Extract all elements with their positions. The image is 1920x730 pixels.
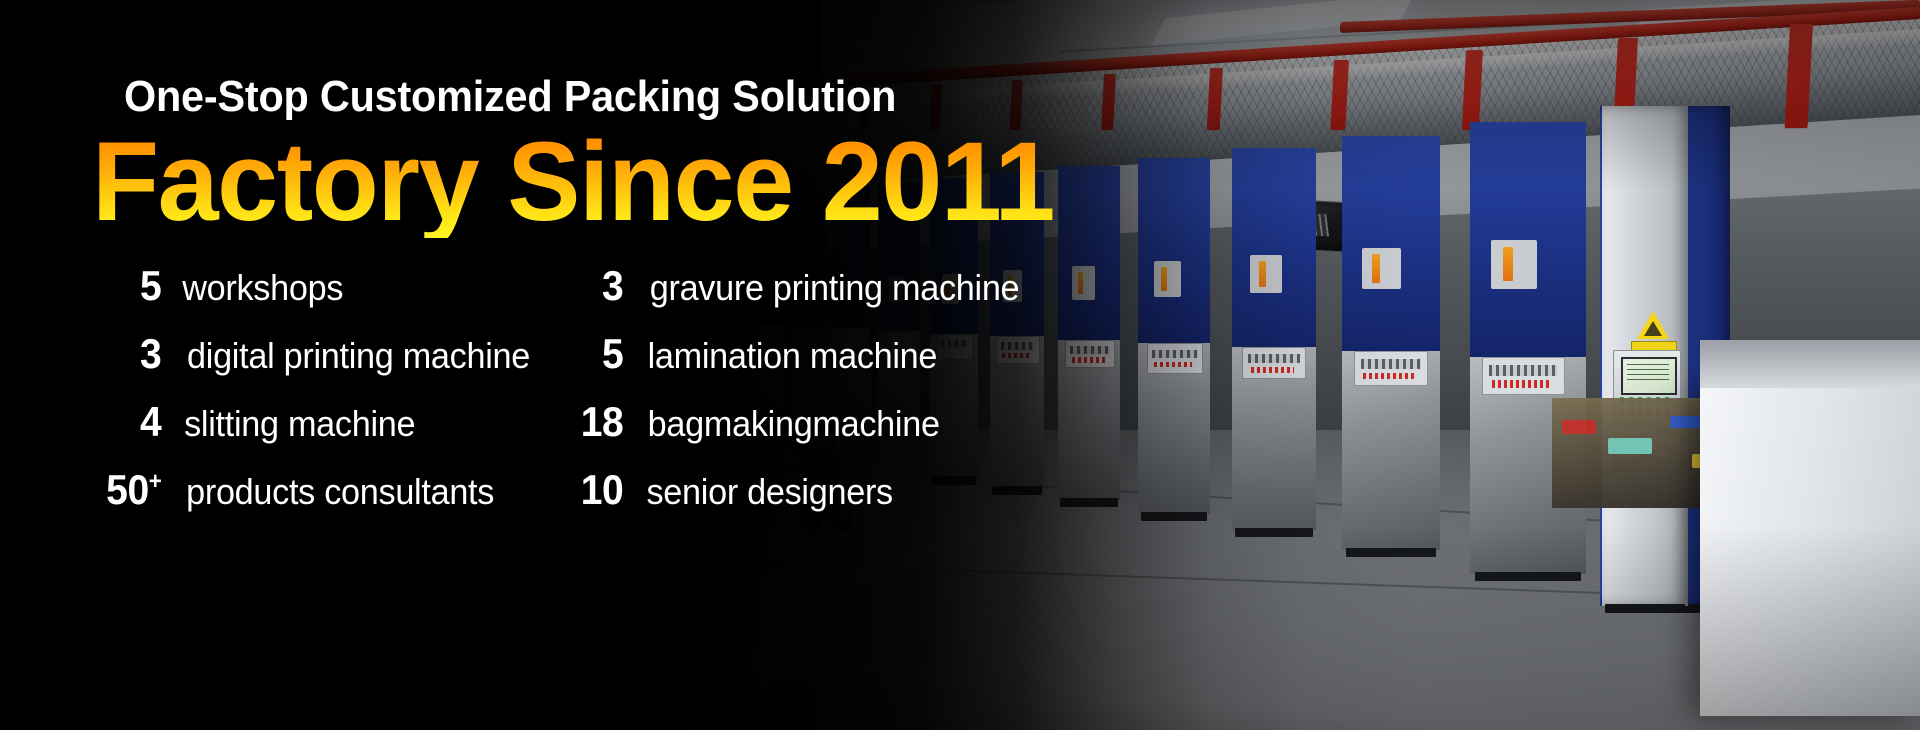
stat-number: 10 bbox=[551, 466, 624, 514]
stat-number: 3 bbox=[551, 262, 624, 310]
banner-content: One-Stop Customized Packing Solution Fac… bbox=[0, 0, 1920, 730]
stat-label: gravure printing machine bbox=[650, 267, 1020, 309]
stat-label: slitting machine bbox=[184, 403, 415, 445]
banner-headline: Factory Since 2011 bbox=[92, 126, 1054, 238]
stat-label: digital printing machine bbox=[187, 335, 530, 377]
banner-eyebrow-text: One-Stop Customized Packing Solution bbox=[124, 72, 896, 122]
stat-item: 4 slitting machine bbox=[86, 398, 556, 466]
stat-number: 50+ bbox=[89, 466, 162, 514]
promotional-banner: One-Stop Customized Packing Solution Fac… bbox=[0, 0, 1920, 730]
stat-label: workshops bbox=[182, 267, 343, 309]
stat-label: senior designers bbox=[646, 471, 892, 513]
stat-number: 3 bbox=[89, 330, 162, 378]
stat-number: 4 bbox=[89, 398, 162, 446]
stat-item: 3 digital printing machine bbox=[86, 330, 556, 398]
stat-number: 5 bbox=[89, 262, 162, 310]
stat-item: 3 gravure printing machine bbox=[548, 262, 1048, 330]
stat-item: 10 senior designers bbox=[548, 466, 1048, 534]
stats-column-right: 3 gravure printing machine 5 lamination … bbox=[548, 262, 1048, 534]
stat-label: bagmakingmachine bbox=[648, 403, 940, 445]
stat-item: 18 bagmakingmachine bbox=[548, 398, 1048, 466]
stat-label: lamination machine bbox=[648, 335, 938, 377]
stat-item: 50+ products consultants bbox=[86, 466, 556, 534]
stats-column-left: 5 workshops 3 digital printing machine 4… bbox=[86, 262, 556, 534]
stat-number: 5 bbox=[551, 330, 624, 378]
stat-item: 5 workshops bbox=[86, 262, 556, 330]
stat-item: 5 lamination machine bbox=[548, 330, 1048, 398]
stat-label: products consultants bbox=[186, 471, 494, 513]
stat-number: 18 bbox=[551, 398, 624, 446]
